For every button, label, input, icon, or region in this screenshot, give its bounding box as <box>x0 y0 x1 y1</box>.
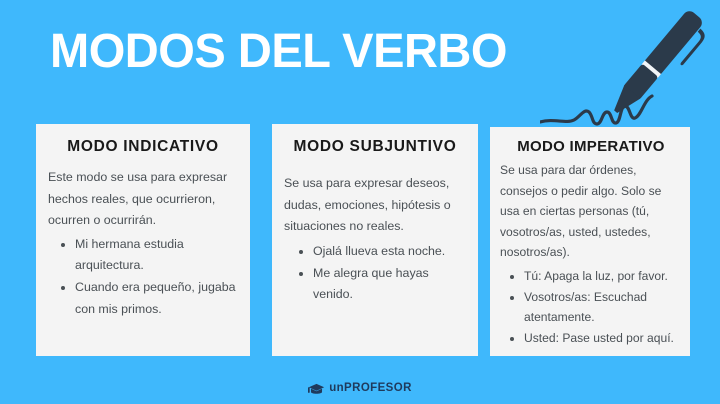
list-item: Vosotros/as: Escuchad atentamente. <box>524 287 682 328</box>
card-heading: MODO IMPERATIVO <box>500 138 682 155</box>
footer-brand: unPROFESOR <box>0 383 720 395</box>
card-description: Se usa para expresar deseos, dudas, emoc… <box>284 173 466 238</box>
card-modo-imperativo: MODO IMPERATIVO Se usa para dar órdenes,… <box>490 127 690 356</box>
card-description: Se usa para dar órdenes, consejos o pedi… <box>500 160 682 263</box>
card-modo-indicativo: MODO INDICATIVO Este modo se usa para ex… <box>36 124 250 356</box>
footer-wordmark: unPROFESOR <box>329 383 412 395</box>
card-example-list: Mi hermana estudia arquitectura. Cuando … <box>48 234 238 321</box>
list-item: Tú: Apaga la luz, por favor. <box>524 266 682 287</box>
card-example-list: Tú: Apaga la luz, por favor. Vosotros/as… <box>500 266 682 349</box>
card-modo-subjuntivo: MODO SUBJUNTIVO Se usa para expresar des… <box>272 124 478 356</box>
card-heading: MODO SUBJUNTIVO <box>284 138 466 156</box>
card-example-list: Ojalá llueva esta noche. Me alegra que h… <box>284 241 466 306</box>
list-item: Ojalá llueva esta noche. <box>313 241 466 263</box>
fountain-pen-writing-icon <box>540 0 720 135</box>
card-heading: MODO INDICATIVO <box>48 138 238 156</box>
card-description: Este modo se usa para expresar hechos re… <box>48 167 238 232</box>
list-item: Usted: Pase usted por aquí. <box>524 328 682 349</box>
list-item: Cuando era pequeño, jugaba con mis primo… <box>75 277 238 320</box>
list-item: Me alegra que hayas venido. <box>313 263 466 306</box>
list-item: Mi hermana estudia arquitectura. <box>75 234 238 277</box>
infographic-canvas: MODOS DEL VERBO MODO INDICATIVO Este mod… <box>0 0 720 404</box>
graduation-cap-icon <box>308 383 325 395</box>
page-title: MODOS DEL VERBO <box>50 26 507 78</box>
